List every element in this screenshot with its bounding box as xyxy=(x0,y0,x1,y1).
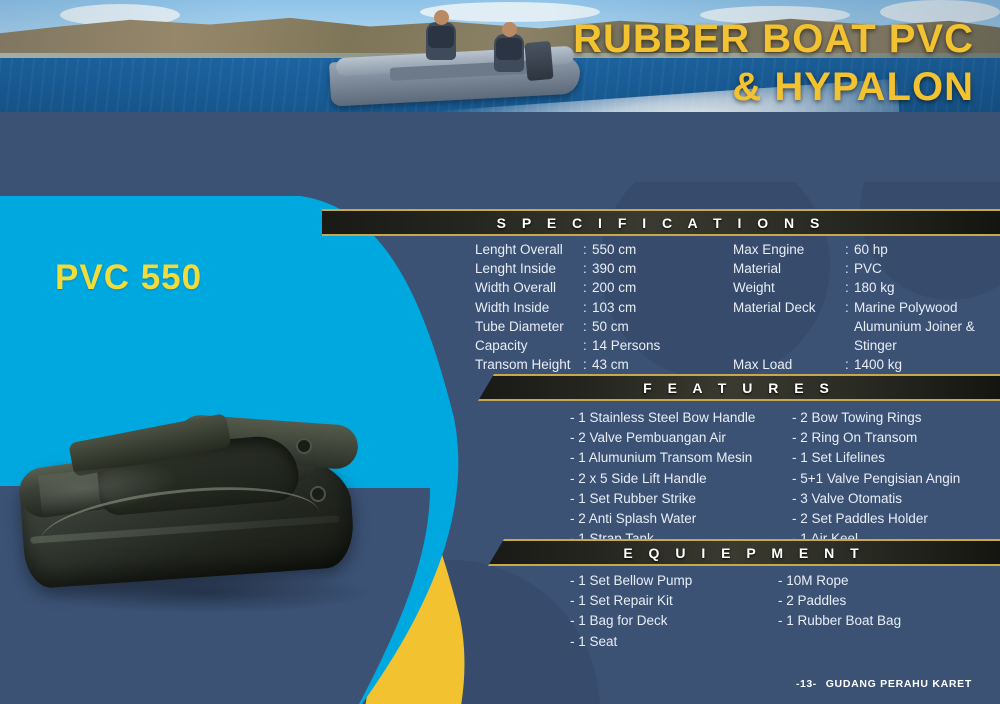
list-item: - 2 x 5 Side Lift Handle xyxy=(570,469,792,489)
spec-key: Max Engine xyxy=(733,240,845,259)
list-item: - 1 Set Rubber Strike xyxy=(570,489,792,509)
spec-row: Width Overall : 200 cm xyxy=(475,278,733,297)
page-footer: -13- GUDANG PERAHU KARET xyxy=(796,678,972,690)
specifications-header-bar: S P E C I F I C A T I O N S xyxy=(322,209,1000,236)
features-heading: F E A T U R E S xyxy=(643,380,835,396)
spec-row: Tube Diameter : 50 cm xyxy=(475,317,733,336)
list-item: - 1 Bag for Deck xyxy=(570,611,778,631)
spec-separator: : xyxy=(845,240,854,259)
spec-key: Weight xyxy=(733,278,845,297)
specifications-column-left: Lenght Overall : 550 cm Lenght Inside : … xyxy=(475,240,733,374)
spec-separator: : xyxy=(845,259,854,278)
spec-key: Lenght Inside xyxy=(475,259,583,278)
spec-value: 200 cm xyxy=(592,278,733,297)
equipment-column-left: - 1 Set Bellow Pump - 1 Set Repair Kit -… xyxy=(570,571,778,652)
spec-separator: : xyxy=(583,259,592,278)
list-item: - 1 Alumunium Transom Mesin xyxy=(570,448,792,468)
specifications-heading: S P E C I F I C A T I O N S xyxy=(497,215,826,231)
spec-separator: : xyxy=(583,336,592,355)
spec-sheet-page: RUBBER BOAT PVC & HYPALON PVC 550 S P E … xyxy=(0,0,1000,704)
spec-value: 103 cm xyxy=(592,298,733,317)
spec-separator: : xyxy=(845,298,854,356)
list-item: - 2 Set Paddles Holder xyxy=(792,509,1000,529)
list-item: - 2 Paddles xyxy=(778,591,1000,611)
list-item: - 2 Ring On Transom xyxy=(792,428,1000,448)
features-content: - 1 Stainless Steel Bow Handle - 2 Valve… xyxy=(570,408,1000,549)
list-item: - 1 Set Repair Kit xyxy=(570,591,778,611)
spec-row: Transom Height : 43 cm xyxy=(475,355,733,374)
spec-separator: : xyxy=(845,278,854,297)
list-item: - 1 Set Bellow Pump xyxy=(570,571,778,591)
page-number: -13- xyxy=(796,678,817,690)
spec-separator: : xyxy=(583,240,592,259)
spec-value: 50 cm xyxy=(592,317,733,336)
spec-value: 390 cm xyxy=(592,259,733,278)
spec-key: Capacity xyxy=(475,336,583,355)
spec-value: Marine Polywood Alumunium Joiner & Sting… xyxy=(854,298,998,356)
spec-separator: : xyxy=(583,317,592,336)
list-item: - 3 Valve Otomatis xyxy=(792,489,1000,509)
list-item: - 2 Valve Pembuangan Air xyxy=(570,428,792,448)
product-boat-image xyxy=(10,398,410,648)
spec-key: Max Load xyxy=(733,355,845,374)
spec-row: Capacity : 14 Persons xyxy=(475,336,733,355)
spec-key: Transom Height xyxy=(475,355,583,374)
spec-key: Width Overall xyxy=(475,278,583,297)
features-column-left: - 1 Stainless Steel Bow Handle - 2 Valve… xyxy=(570,408,792,549)
spec-value: 180 kg xyxy=(854,278,998,297)
spec-key: Tube Diameter xyxy=(475,317,583,336)
spec-value: 1400 kg xyxy=(854,355,998,374)
product-boat-valve xyxy=(296,438,312,454)
spec-row: Lenght Overall : 550 cm xyxy=(475,240,733,259)
spec-row: Material : PVC xyxy=(733,259,998,278)
spec-row: Max Engine : 60 hp xyxy=(733,240,998,259)
spec-separator: : xyxy=(583,278,592,297)
list-item: - 2 Bow Towing Rings xyxy=(792,408,1000,428)
spec-separator: : xyxy=(583,298,592,317)
spec-value: 14 Persons xyxy=(592,336,733,355)
spec-row: Material Deck : Marine Polywood Alumuniu… xyxy=(733,298,998,356)
hero-title: RUBBER BOAT PVC & HYPALON xyxy=(573,16,974,112)
spec-row: Weight : 180 kg xyxy=(733,278,998,297)
hero-title-line1: RUBBER BOAT PVC xyxy=(573,16,974,62)
spec-row: Lenght Inside : 390 cm xyxy=(475,259,733,278)
spec-value: 60 hp xyxy=(854,240,998,259)
hero-navy-divider xyxy=(0,112,1000,182)
list-item: - 1 Stainless Steel Bow Handle xyxy=(570,408,792,428)
spec-separator: : xyxy=(583,355,592,374)
equipment-header-bar: E Q U I E P M E N T xyxy=(488,539,1000,566)
equipment-content: - 1 Set Bellow Pump - 1 Set Repair Kit -… xyxy=(570,571,1000,652)
list-item: - 1 Set Lifelines xyxy=(792,448,1000,468)
list-item: - 2 Anti Splash Water xyxy=(570,509,792,529)
spec-separator: : xyxy=(845,355,854,374)
list-item: - 1 Rubber Boat Bag xyxy=(778,611,1000,631)
specifications-content: Lenght Overall : 550 cm Lenght Inside : … xyxy=(475,240,1000,374)
brand-name: GUDANG PERAHU KARET xyxy=(826,678,972,690)
hero-title-line2: & HYPALON xyxy=(573,62,974,112)
spec-value: PVC xyxy=(854,259,998,278)
spec-row: Width Inside : 103 cm xyxy=(475,298,733,317)
list-item: - 1 Seat xyxy=(570,632,778,652)
spec-key: Material Deck xyxy=(733,298,845,356)
equipment-heading: E Q U I E P M E N T xyxy=(623,545,864,561)
features-column-right: - 2 Bow Towing Rings - 2 Ring On Transom… xyxy=(792,408,1000,549)
spec-key: Width Inside xyxy=(475,298,583,317)
list-item: - 10M Rope xyxy=(778,571,1000,591)
spec-value: 43 cm xyxy=(592,355,733,374)
spec-key: Material xyxy=(733,259,845,278)
features-header-bar: F E A T U R E S xyxy=(478,374,1000,401)
specifications-column-right: Max Engine : 60 hp Material : PVC Weight… xyxy=(733,240,998,374)
product-boat-valve xyxy=(310,486,326,502)
list-item: - 5+1 Valve Pengisian Angin xyxy=(792,469,1000,489)
spec-value: 550 cm xyxy=(592,240,733,259)
product-model-label: PVC 550 xyxy=(55,258,202,298)
equipment-column-right: - 10M Rope - 2 Paddles - 1 Rubber Boat B… xyxy=(778,571,1000,652)
spec-key: Lenght Overall xyxy=(475,240,583,259)
spec-row: Max Load : 1400 kg xyxy=(733,355,998,374)
